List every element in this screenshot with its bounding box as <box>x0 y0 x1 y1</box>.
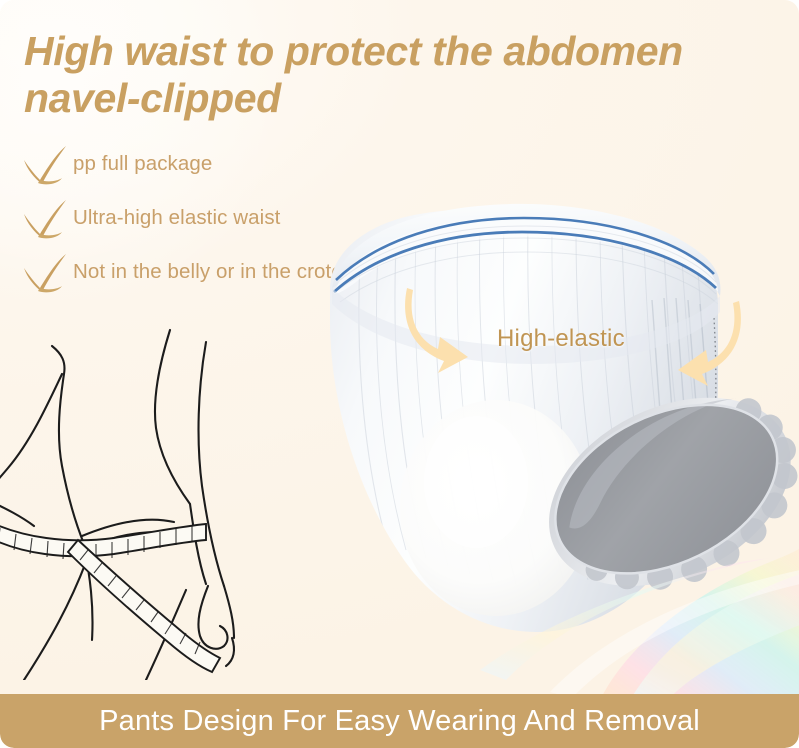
list-item-label: Ultra-high elastic waist <box>73 206 280 230</box>
measuring-tape-icon <box>0 520 220 672</box>
callout-label: High-elastic <box>497 325 625 353</box>
check-swoosh-icon <box>18 252 74 296</box>
headline-line-2: navel-clipped <box>24 75 776 122</box>
headline-line-1: High waist to protect the abdomen <box>24 28 776 75</box>
list-item-label: pp full package <box>73 152 212 176</box>
check-swoosh-icon <box>18 144 74 188</box>
product-marketing-card: High waist to protect the abdomen navel-… <box>0 0 799 748</box>
hip-measurement-line-drawing <box>0 300 344 680</box>
disposable-pull-up-pants-photo <box>300 170 799 700</box>
body-outline <box>0 330 234 680</box>
check-swoosh-icon <box>18 198 74 242</box>
page-title: High waist to protect the abdomen navel-… <box>24 28 776 121</box>
banner-text: Pants Design For Easy Wearing And Remova… <box>99 705 700 738</box>
curved-arrow-left-icon <box>628 296 748 386</box>
bottom-banner: Pants Design For Easy Wearing And Remova… <box>0 694 799 748</box>
